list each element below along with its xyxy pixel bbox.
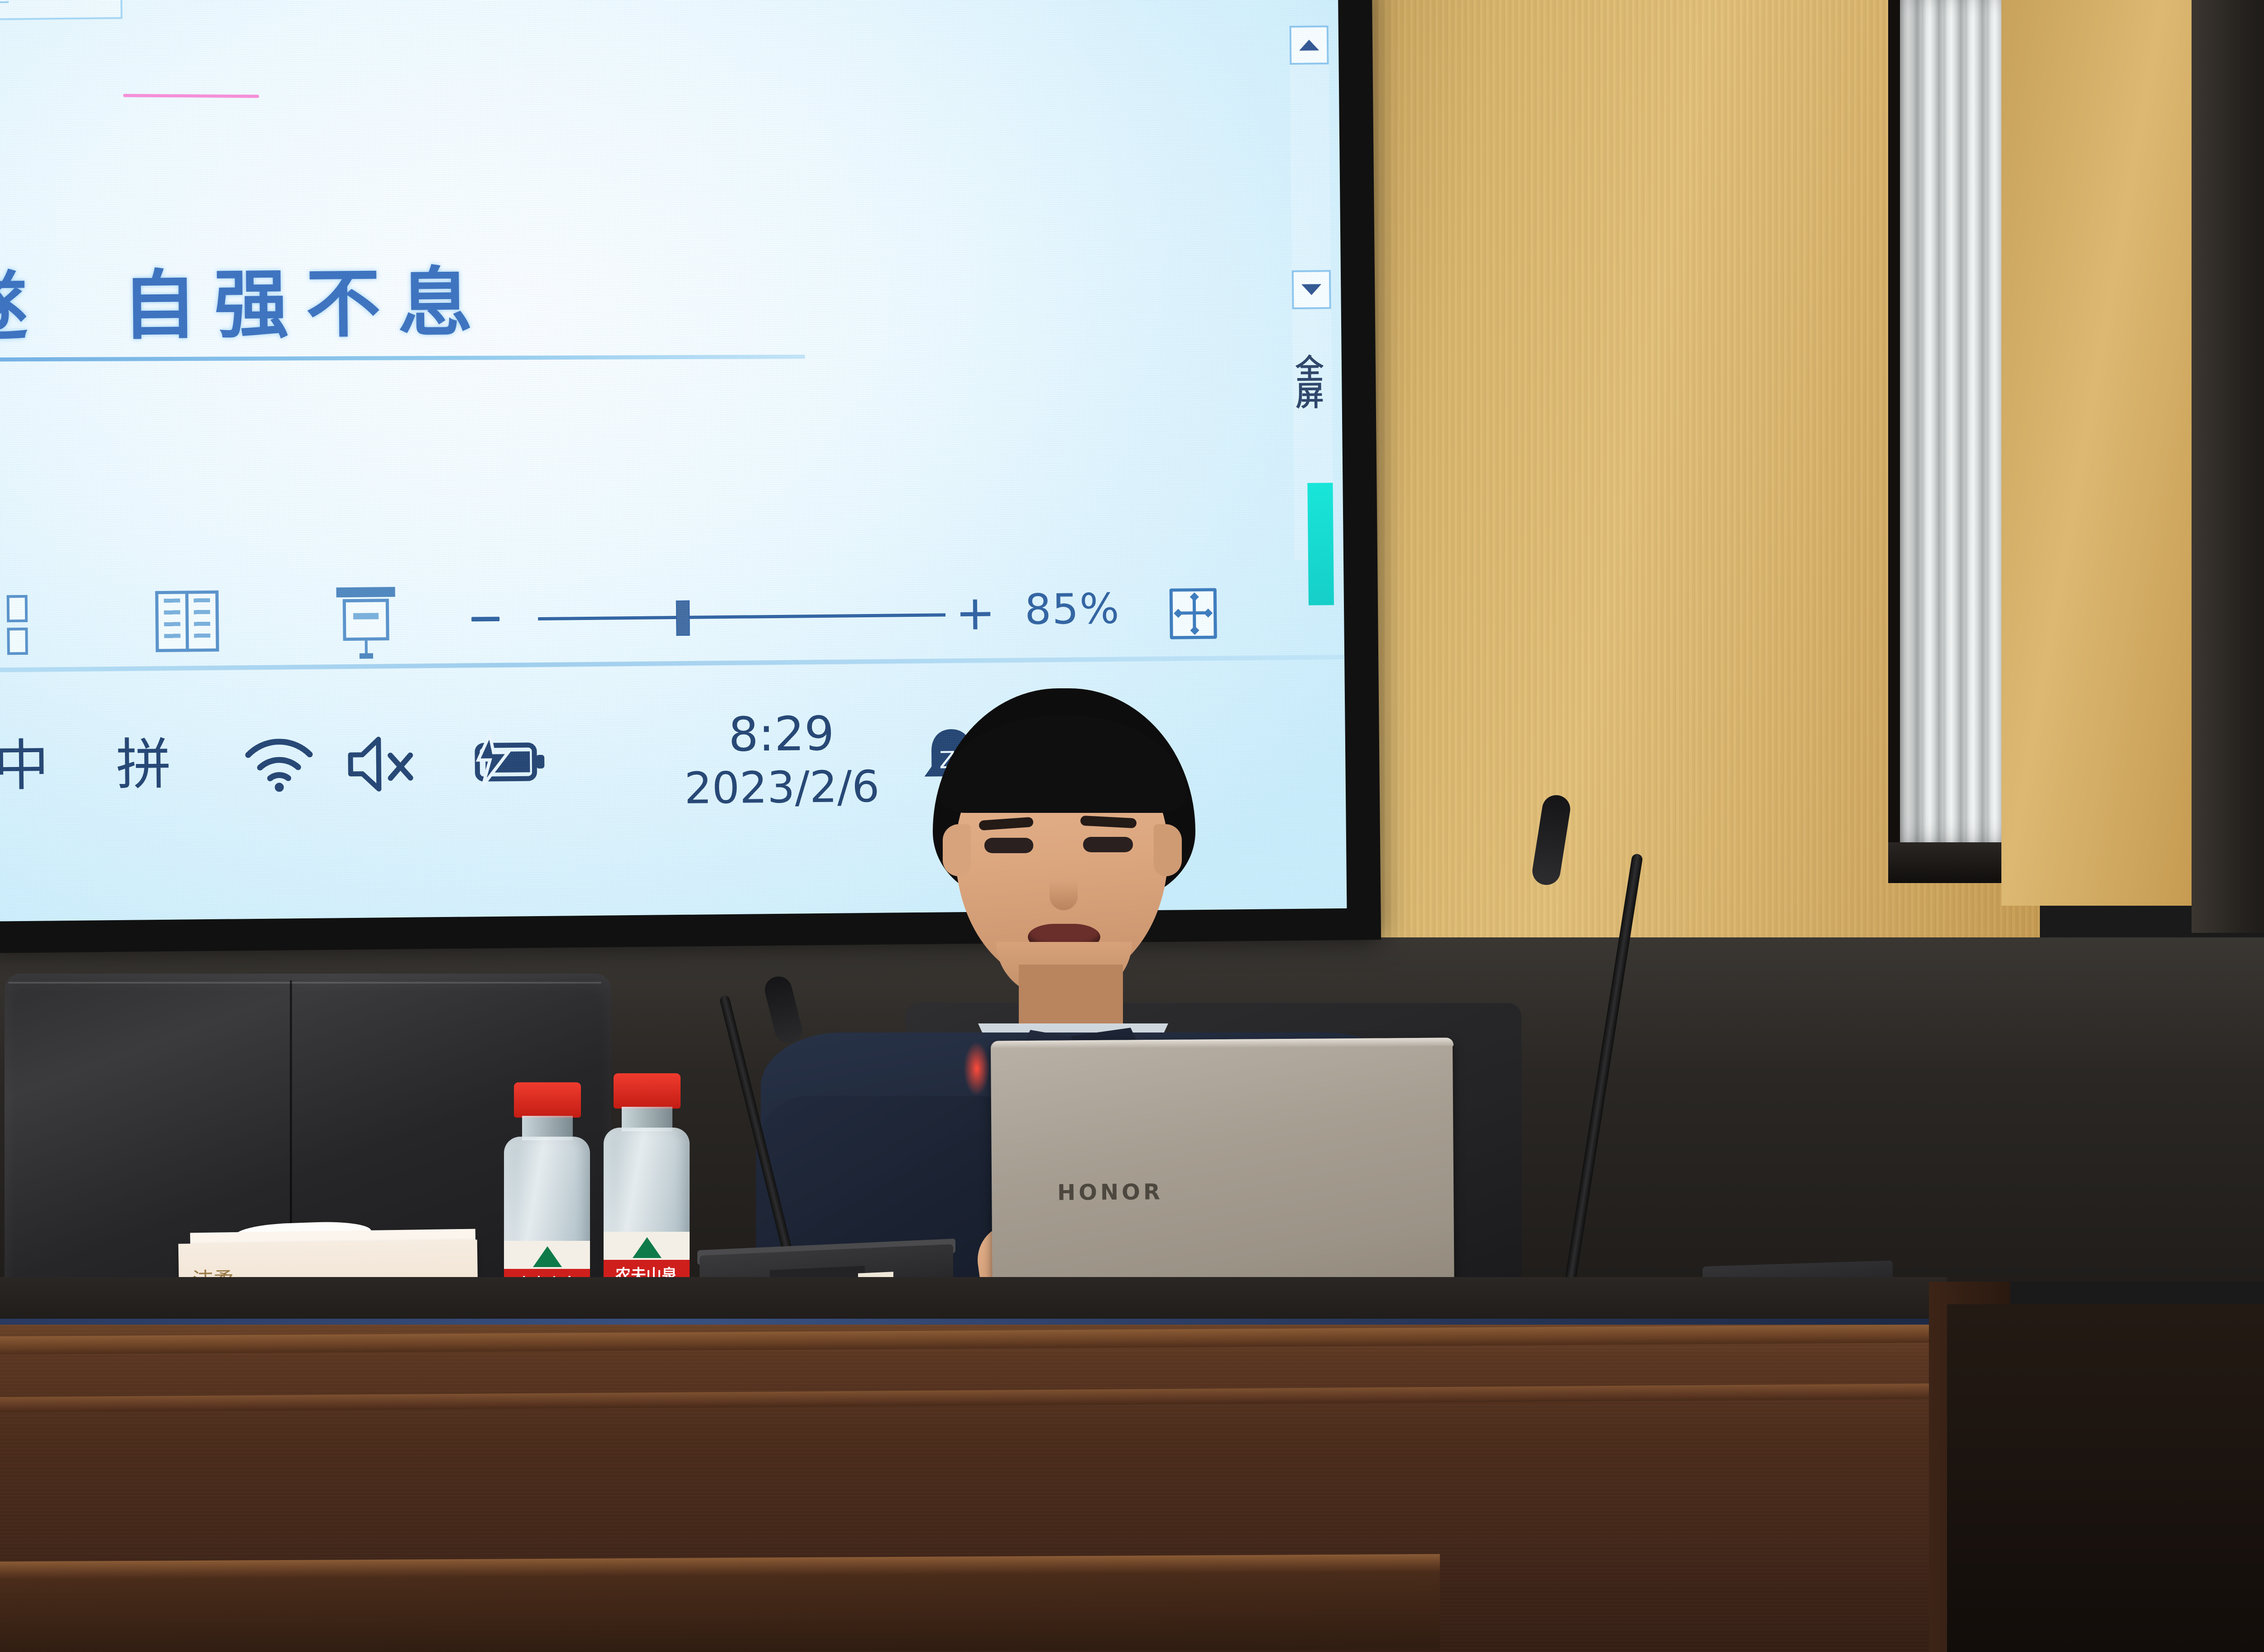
battery-charging-icon[interactable]	[465, 731, 549, 791]
slide-title-placeholder	[0, 0, 122, 21]
chair-back-split	[290, 980, 292, 1252]
slide-headline-left: 遂	[0, 263, 45, 351]
scene-root: 的标题 遂自强不息 全屏	[0, 0, 2264, 1652]
nongfu-mountain-logo	[533, 1246, 562, 1267]
slide-headline: 遂自强不息	[0, 242, 490, 355]
laptop-brand-label: HONOR	[1057, 1179, 1163, 1205]
slide-title-text: 的标题	[0, 0, 12, 10]
bottle-cap	[614, 1073, 681, 1109]
reading-view-icon[interactable]	[155, 591, 219, 652]
zoom-level-label[interactable]: 85%	[1025, 585, 1121, 634]
scroll-down-button[interactable]	[1292, 270, 1331, 309]
wall-edge-shadow	[2192, 0, 2264, 933]
ime-mode-indicator[interactable]: 拼	[115, 720, 172, 800]
slideshow-view-icon[interactable]	[336, 587, 396, 655]
chevron-down-icon	[1301, 284, 1321, 295]
laptop-lid	[991, 1037, 1454, 1312]
desk-lower-shadow	[0, 1572, 1440, 1652]
zoom-out-button[interactable]	[471, 617, 499, 622]
volume-muted-icon[interactable]	[342, 735, 424, 792]
wifi-icon[interactable]	[243, 734, 316, 793]
book-spine	[185, 591, 189, 652]
fullscreen-vertical-label[interactable]: 全屏	[1289, 356, 1330, 410]
wood-wall-far	[2001, 0, 2201, 906]
nongfu-mountain-logo	[633, 1237, 662, 1258]
zoom-in-button[interactable]	[960, 599, 991, 629]
slide-pink-rule	[123, 94, 259, 98]
zoom-slider-track[interactable]	[538, 613, 945, 620]
speaker-mute-glyph	[342, 735, 424, 792]
zoom-slider-handle[interactable]	[676, 600, 690, 636]
chevron-up-icon	[1299, 39, 1319, 50]
wifi-glyph	[243, 734, 316, 793]
battery-glyph	[465, 731, 549, 791]
slide-headline-right: 自强不息	[122, 259, 490, 350]
fit-to-window-icon[interactable]	[1170, 588, 1217, 639]
ime-language-indicator[interactable]: 中	[0, 720, 49, 801]
bottle-cap	[514, 1082, 581, 1118]
presentation-status-bar: 85%	[0, 573, 1347, 668]
scroll-up-button[interactable]	[1290, 25, 1329, 65]
normal-view-icon[interactable]	[0, 595, 34, 650]
slide-underline	[0, 355, 805, 362]
chair-seam	[8, 982, 601, 984]
indicator-light	[964, 1042, 990, 1096]
right-lower-dark-wall	[1947, 1304, 2264, 1652]
water-bottle-2: 农夫山泉 NONGFU SPRING 饮用天然水 净含量380ml	[600, 1073, 693, 1304]
